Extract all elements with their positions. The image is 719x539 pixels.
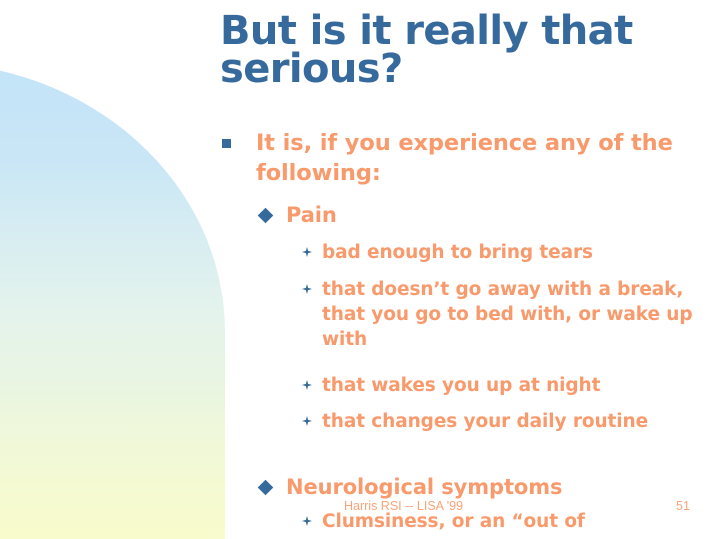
star-bullet-icon <box>302 247 312 257</box>
bullet-level3-item: bad enough to bring tears <box>322 240 682 265</box>
slide-canvas: But is it really that serious? It is, if… <box>0 0 719 539</box>
bullet-level3-item: that doesn’t go away with a break, that … <box>322 277 694 352</box>
bullet-level3-label: that changes your daily routine <box>322 411 648 432</box>
bullet-level3-item: that wakes you up at night <box>322 373 682 398</box>
square-bullet-icon <box>222 139 231 148</box>
bullet-level3-label: bad enough to bring tears <box>322 242 593 263</box>
bullet-level1-item: It is, if you experience any of the foll… <box>256 129 676 188</box>
slide-page-number: 51 <box>676 499 690 513</box>
bullet-level1-label: It is, if you experience any of the foll… <box>256 130 673 186</box>
star-bullet-icon <box>302 516 312 526</box>
slide-footer-text: Harris RSI -- LISA '99 <box>344 499 463 513</box>
bullet-level3-label: Clumsiness, or an “out of <box>322 511 585 532</box>
diamond-bullet-icon <box>258 208 274 224</box>
star-bullet-icon <box>302 380 312 390</box>
slide-body: It is, if you experience any of the foll… <box>0 0 719 539</box>
bullet-level2-item: Pain <box>286 202 686 229</box>
bullet-level3-label: that doesn’t go away with a break, that … <box>322 279 693 350</box>
bullet-level2-item: Neurological symptoms <box>286 474 686 501</box>
bullet-level3-label: that wakes you up at night <box>322 375 600 396</box>
bullet-level2-label: Neurological symptoms <box>286 475 562 499</box>
star-bullet-icon <box>302 284 312 294</box>
star-bullet-icon <box>302 416 312 426</box>
bullet-level2-label: Pain <box>286 203 337 227</box>
bullet-level3-item: that changes your daily routine <box>322 409 652 434</box>
diamond-bullet-icon <box>258 480 274 496</box>
